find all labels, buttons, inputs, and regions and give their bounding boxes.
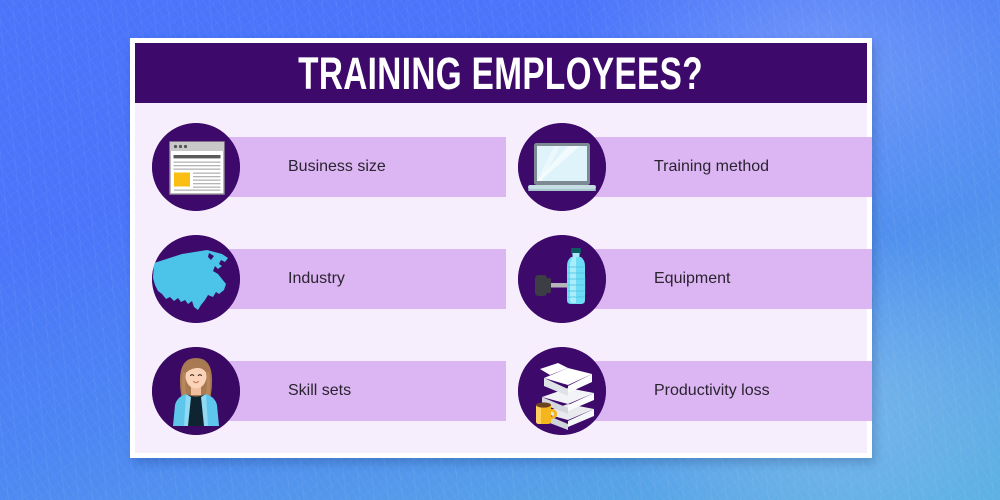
background: TRAINING EMPLOYEES? Business size: [0, 0, 1000, 500]
laptop-icon: [518, 123, 606, 211]
list-item[interactable]: Skill sets: [140, 335, 496, 447]
row-group-1: Business size: [140, 111, 862, 223]
businesswoman-icon: [152, 347, 240, 435]
list-item-label: Business size: [288, 137, 386, 197]
list-item[interactable]: Productivity loss: [506, 335, 862, 447]
list-item[interactable]: Industry: [140, 223, 496, 335]
list-item[interactable]: Business size: [140, 111, 496, 223]
list-item-label: Skill sets: [288, 361, 351, 421]
card-body: Business size: [135, 103, 867, 453]
list-item-label: Equipment: [654, 249, 731, 309]
list-item-label: Training method: [654, 137, 769, 197]
card-header: TRAINING EMPLOYEES?: [135, 43, 867, 103]
dumbbell-water-bottle-icon: [518, 235, 606, 323]
usa-map-icon: [152, 235, 240, 323]
row-group-3: Skill sets: [140, 335, 862, 447]
browser-window-icon: [152, 123, 240, 211]
list-item-label: Productivity loss: [654, 361, 770, 421]
list-item[interactable]: Equipment: [506, 223, 862, 335]
list-item[interactable]: Training method: [506, 111, 862, 223]
infographic-card: TRAINING EMPLOYEES? Business size: [130, 38, 872, 458]
row-group-2: Industry Equipment: [140, 223, 862, 335]
paper-stack-coffee-icon: [518, 347, 606, 435]
list-item-label: Industry: [288, 249, 345, 309]
page-title: TRAINING EMPLOYEES?: [299, 51, 704, 96]
